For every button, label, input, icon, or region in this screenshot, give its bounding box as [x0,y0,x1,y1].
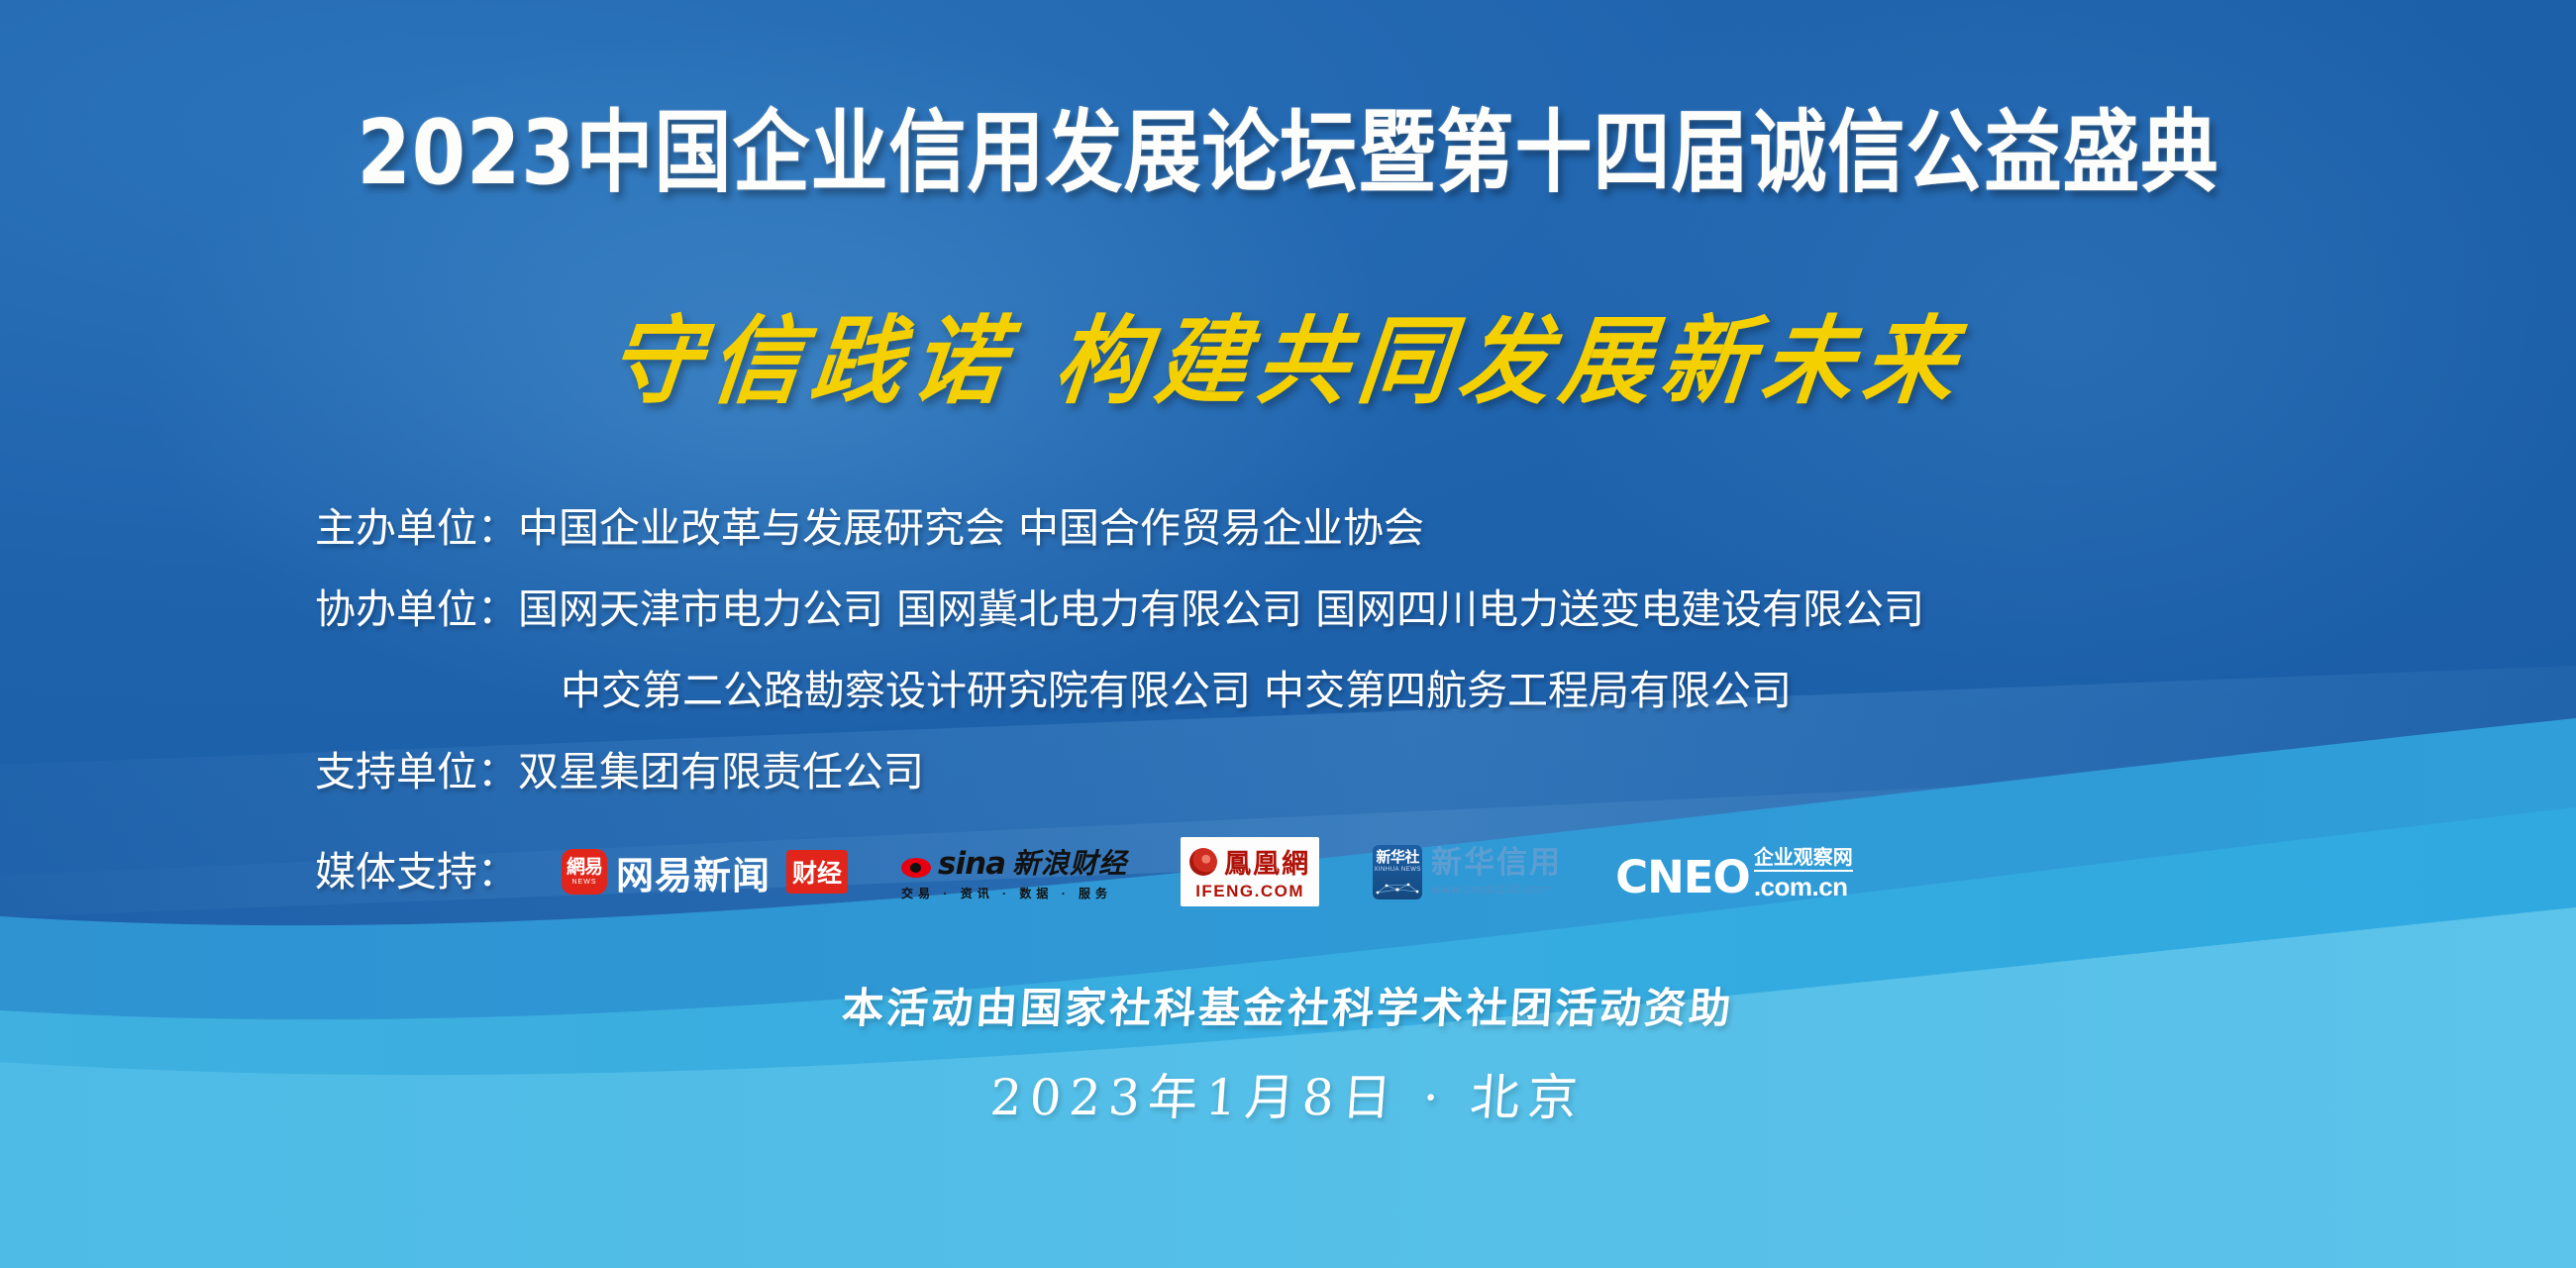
poster-subtitle: 守信践诺 构建共同发展新未来 [0,284,2576,423]
organizer-value-coorganizer-cont: 中交第二公路勘察设计研究院有限公司 中交第四航务工程局有限公司 [561,667,1792,714]
xinhua-badge-en: XINHUA NEWS [1374,867,1421,873]
netease-finance-tag: 财经 [786,850,848,894]
organizer-value-host: 中国企业改革与发展研究会 中国合作贸易企业协会 [518,504,1424,552]
ifeng-name-cn: 鳳凰網 [1224,842,1310,881]
xinhua-name-cn: 新华信用 [1431,847,1562,880]
netease-badge-cn: 網易 [567,858,602,877]
media-support-row: 媒体支持： 網易 NEWS 网易新闻 财经 sina 新浪财经 [315,837,1853,906]
sina-logo-top: sina 新浪财经 [901,842,1127,882]
logo-xinhua-credit[interactable]: 新华社 XINHUA NEWS [1373,844,1562,899]
event-dateline: 2023年1月8日 · 北京 [0,1058,2576,1129]
sina-name-cn: 新浪财经 [1012,842,1127,882]
organizer-value-supporter: 双星集团有限责任公司 [518,748,924,795]
logo-sina-finance[interactable]: sina 新浪财经 交易 · 资讯 · 数据 · 服务 [901,841,1127,902]
xinhua-badge-cn: 新华社 [1376,850,1419,865]
organizer-label-coorganizer: 协办单位： [315,585,518,633]
organizer-row-coorganizer: 协办单位：国网天津市电力公司 国网冀北电力有限公司 国网四川电力送变电建设有限公… [315,569,1924,650]
ifeng-domain: IFENG.COM [1195,882,1304,901]
cneo-right-block: 企业观察网 .com.cn [1754,848,1853,899]
organizer-row-host: 主办单位：中国企业改革与发展研究会 中国合作贸易企业协会 [315,487,1924,569]
xinhua-url: www.credit100.com [1431,882,1562,897]
network-dots-icon [1373,879,1422,897]
ifeng-logo-top: 鳳凰網 [1189,842,1310,881]
funding-note: 本活动由国家社科基金社科学术社团活动资助 [0,975,2576,1035]
netease-badge-icon: 網易 NEWS [562,849,607,895]
netease-badge-en: NEWS [572,879,597,886]
organizer-block: 主办单位：中国企业改革与发展研究会 中国合作贸易企业协会 协办单位：国网天津市电… [315,487,1924,812]
sina-eye-icon [901,858,931,878]
logo-ifeng[interactable]: 鳳凰網 IFENG.COM [1181,837,1319,906]
poster-content: 2023中国企业信用发展论坛暨第十四届诚信公益盛典 守信践诺 构建共同发展新未来… [0,0,2576,1268]
cneo-name-cn: 企业观察网 [1754,848,1853,872]
cneo-wordmark: CNEO [1615,857,1750,899]
poster-canvas: 2023中国企业信用发展论坛暨第十四届诚信公益盛典 守信践诺 构建共同发展新未来… [0,0,2576,1268]
organizer-row-coorganizer-cont: 中交第二公路勘察设计研究院有限公司 中交第四航务工程局有限公司 [315,650,1924,731]
media-support-label: 媒体支持： [315,840,518,903]
netease-name: 网易新闻 [616,845,771,899]
logo-cneo[interactable]: CNEO 企业观察网 .com.cn [1615,844,1853,899]
organizer-label-supporter: 支持单位： [315,748,518,795]
logo-netease-news[interactable]: 網易 NEWS 网易新闻 财经 [562,844,848,899]
sina-tagline: 交易 · 资讯 · 数据 · 服务 [901,885,1112,901]
xinhua-text-block: 新华信用 www.credit100.com [1431,847,1562,897]
cneo-domain: .com.cn [1754,874,1848,899]
media-logo-list: 網易 NEWS 网易新闻 财经 sina 新浪财经 交易 · 资讯 · 数据 ·… [562,837,1853,906]
organizer-value-coorganizer: 国网天津市电力公司 国网冀北电力有限公司 国网四川电力送变电建设有限公司 [518,585,1924,633]
page-title: 2023中国企业信用发展论坛暨第十四届诚信公益盛典 [0,81,2576,210]
organizer-label-host: 主办单位： [315,504,518,552]
sina-wordmark: sina [938,846,1005,882]
organizer-row-supporter: 支持单位：双星集团有限责任公司 [315,731,1924,812]
xinhua-badge-icon: 新华社 XINHUA NEWS [1373,845,1422,899]
phoenix-icon [1189,848,1217,876]
